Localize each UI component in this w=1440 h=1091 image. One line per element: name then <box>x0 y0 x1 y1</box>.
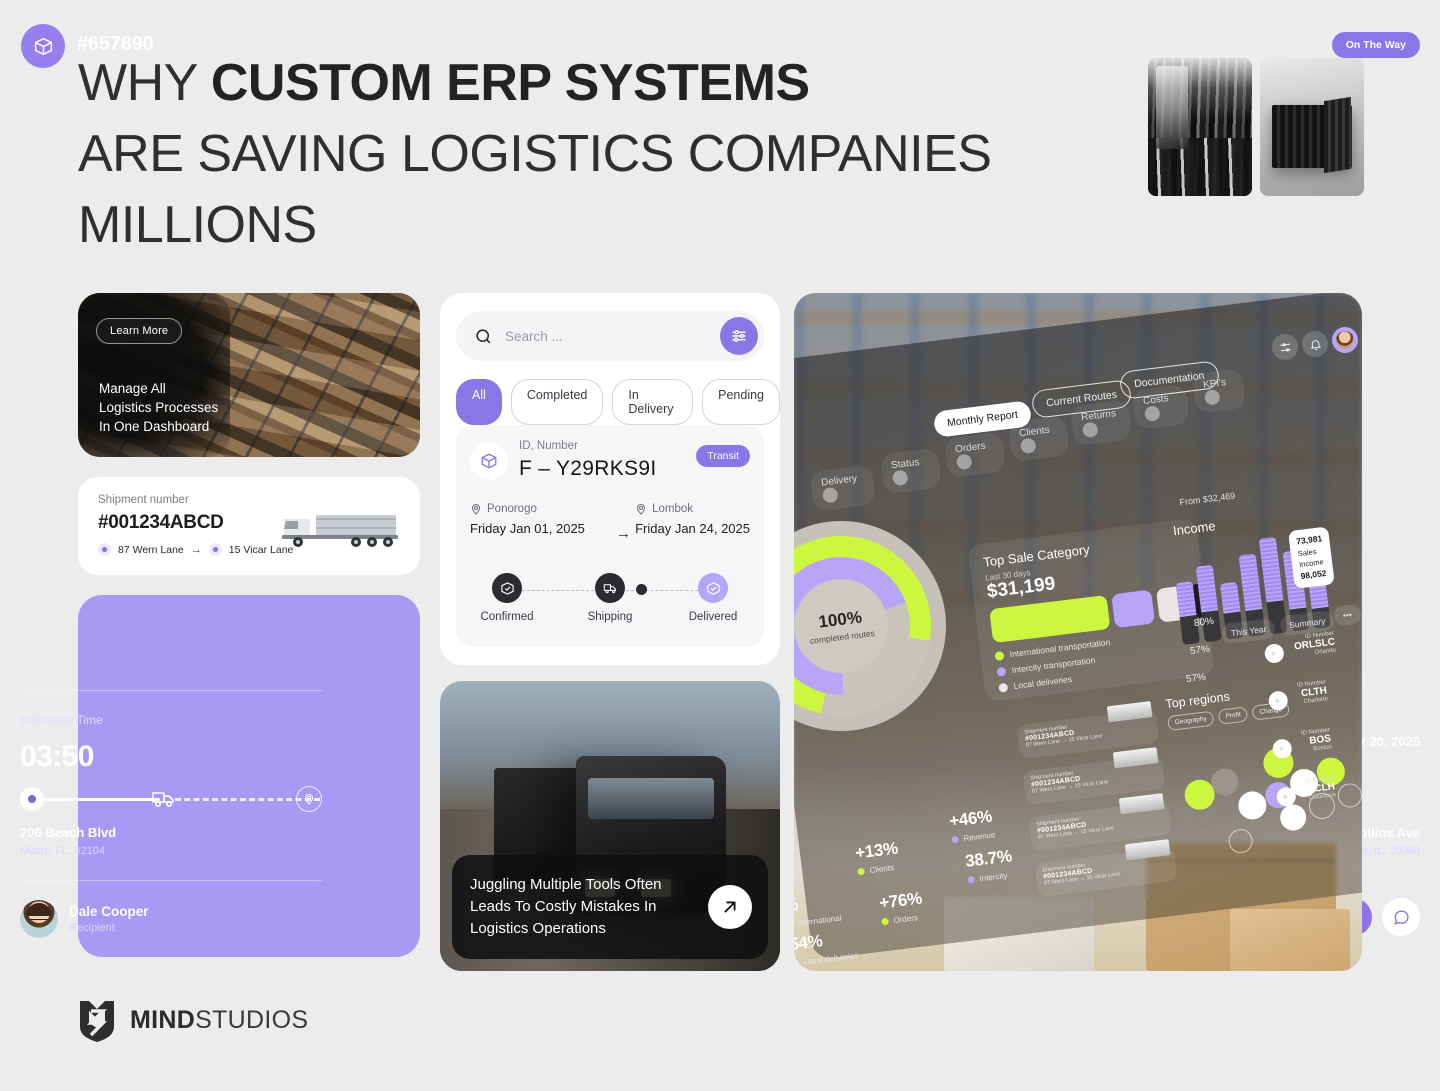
shipment-id-value: F – Y29RKS9I <box>519 457 656 481</box>
origin-city: Miami, FL, 32104 <box>20 845 116 857</box>
recipient-role: Recipient <box>69 922 149 934</box>
tile-costs-label: Costs <box>1143 393 1170 407</box>
shipment-detail-card[interactable]: ID, Number F – Y29RKS9I Transit Ponorogo… <box>456 425 764 647</box>
route-item[interactable]: ID Number CLH Columbus ▶ <box>1305 775 1337 801</box>
truck-illustration <box>276 505 404 551</box>
headline-line2: ARE SAVING LOGISTICS COMPANIES <box>78 119 1038 190</box>
slider-track-filled <box>38 798 160 801</box>
status-badge: On The Way <box>1332 32 1420 58</box>
shipment-number-value: #001234ABCD <box>98 512 224 534</box>
tooltip-top-label: Sales <box>1297 547 1317 558</box>
tile-status[interactable]: Status <box>880 448 942 495</box>
origin-date: Friday Jan 01, 2025 <box>470 521 585 536</box>
stat-orders: +76% Orders <box>878 889 924 927</box>
estimated-time-value: 03:50 <box>20 740 94 774</box>
regions-bubble-chart <box>1175 730 1362 871</box>
tile-orders[interactable]: Orders <box>944 432 1006 479</box>
photo-caption-overlay: Juggling Multiple Tools Often Leads To C… <box>452 855 768 959</box>
cardboard-box-small <box>1230 909 1350 971</box>
filter-pills: All Completed In Delivery Pending <box>456 379 780 425</box>
tile-returns-label: Returns <box>1081 408 1117 423</box>
step-delivered-label: Delivered <box>676 611 750 623</box>
tile-orders-label: Orders <box>955 441 987 456</box>
stat-revenue: +46% Revenue <box>948 806 996 844</box>
search-icon <box>474 327 493 346</box>
transit-badge: Transit <box>696 445 750 467</box>
headline-line3: MILLIONS <box>78 190 1038 261</box>
map-pin-icon <box>635 503 647 515</box>
shipping-container-photo <box>1260 58 1364 196</box>
tile-delivery-label: Delivery <box>821 473 858 488</box>
arrow-up-right-icon <box>719 896 741 918</box>
logo-mark-icon <box>78 997 116 1043</box>
package-icon <box>470 442 508 480</box>
route-item[interactable]: ID Number BOS Boston ▶ <box>1301 727 1333 753</box>
chat-button[interactable] <box>1382 898 1420 936</box>
warehouse-title-line2: Logistics Processes <box>99 400 218 415</box>
origin-city: Ponorogo <box>487 503 537 515</box>
stat-international: % International <box>794 890 842 930</box>
route-item[interactable]: ID Number CLTH Charlotte ▶ <box>1297 679 1329 705</box>
tile-clients-label: Clients <box>1019 425 1051 440</box>
tooltip-top-value: 73,981 <box>1296 533 1323 546</box>
recipient-block: Dale Cooper Recipient <box>20 900 149 938</box>
origin-address-block: 206 Beach Blvd Miami, FL, 32104 <box>20 825 116 857</box>
shipment-id-label: ID, Number <box>519 440 578 452</box>
estimated-time-label: Estimated Time <box>20 713 103 727</box>
photo-caption-text: Juggling Multiple Tools Often Leads To C… <box>470 874 700 939</box>
map-pin-icon <box>470 503 482 515</box>
stat-value: % <box>794 895 799 916</box>
search-input[interactable] <box>505 329 720 344</box>
headline-line1-light: WHY <box>78 54 211 112</box>
stat-clients: +13% Clients <box>854 839 900 877</box>
logo-bold: MIND <box>130 1006 195 1034</box>
top-sale-title: Top Sale Category <box>982 542 1090 570</box>
slider-destination-pin <box>296 786 322 812</box>
warehouse-card-title: Manage All Logistics Processes In One Da… <box>99 379 259 436</box>
delivered-icon <box>698 573 728 603</box>
filter-pill-all[interactable]: All <box>456 379 502 425</box>
progress-slider[interactable] <box>20 786 322 814</box>
learn-more-button[interactable]: Learn More <box>96 318 182 344</box>
open-arrow-button[interactable] <box>708 885 752 929</box>
tile-kpis[interactable]: KPI's <box>1192 368 1247 414</box>
tile-delivery[interactable]: Delivery <box>810 464 876 511</box>
shipment-search-panel: All Completed In Delivery Pending ID, Nu… <box>440 293 780 665</box>
tile-kpis-label: KPI's <box>1203 377 1227 391</box>
origin-address: 206 Beach Blvd <box>20 825 116 840</box>
stat-value: +76% <box>878 889 923 913</box>
shipment-origin: 87 Wern Lane <box>118 544 184 556</box>
page-title: WHY CUSTOM ERP SYSTEMS ARE SAVING LOGIST… <box>78 48 1038 262</box>
shipment-label: Shipment number <box>98 494 189 506</box>
poster-root: WHY CUSTOM ERP SYSTEMS ARE SAVING LOGIST… <box>0 0 1440 1091</box>
warehouse-title-line3: In One Dashboard <box>99 419 209 434</box>
shipment-route: 87 Wern Lane → 15 Vicar Lane <box>98 543 293 556</box>
origin-city-row: Ponorogo <box>470 503 585 515</box>
tooltip-bottom-value: 98,052 <box>1300 568 1327 581</box>
search-bar[interactable] <box>456 311 764 361</box>
mind-studios-logo: MINDSTUDIOS <box>78 997 308 1043</box>
tooltip-bottom-label: Income <box>1299 557 1325 569</box>
truck-photo-card[interactable]: Juggling Multiple Tools Often Leads To C… <box>440 681 780 971</box>
logo-light: STUDIOS <box>195 1006 308 1034</box>
caption-line2: Leads To Costly Mistakes In <box>470 898 656 915</box>
logo-text: MINDSTUDIOS <box>130 1006 308 1035</box>
donut-value: 100% <box>817 607 863 632</box>
origin-dot-icon <box>98 543 111 556</box>
destination-pin-icon <box>209 543 222 556</box>
headline-line1-bold: CUSTOM ERP SYSTEMS <box>211 54 810 112</box>
destination-city: Lombok <box>652 503 693 515</box>
tile-status-label: Status <box>891 457 920 471</box>
filter-pill-completed[interactable]: Completed <box>511 379 603 425</box>
stat-value: 54% <box>794 931 823 954</box>
route-arrow-icon: → <box>616 525 631 542</box>
trucks-fleet-photo <box>1148 58 1252 196</box>
step-confirmed-label: Confirmed <box>470 611 544 623</box>
step-shipping-label: Shipping <box>573 611 647 623</box>
filter-settings-icon[interactable] <box>720 317 758 355</box>
confirmed-icon <box>492 573 522 603</box>
step-delivered[interactable]: Delivered <box>676 573 750 623</box>
erp-dashboard-mockup[interactable]: Monthly Report Current Routes Documentat… <box>794 293 1362 971</box>
shipping-icon <box>595 573 625 603</box>
arrow-right-icon: → <box>191 544 202 556</box>
tile-clients[interactable]: Clients <box>1008 416 1070 463</box>
destination-city-row: Lombok <box>635 503 750 515</box>
income-tooltip: 73,981 Sales Income 98,052 <box>1288 526 1335 588</box>
warehouse-title-line1: Manage All <box>99 381 166 396</box>
avatar <box>20 900 58 938</box>
stat-intercity: 38.7% Intercity <box>964 846 1014 884</box>
filter-pill-pending[interactable]: Pending <box>702 379 780 425</box>
slider-truck-icon <box>151 788 177 810</box>
divider-bottom <box>20 880 322 881</box>
tile-returns[interactable]: Returns <box>1070 400 1132 447</box>
caption-line1: Juggling Multiple Tools Often <box>470 876 662 893</box>
slider-start-knob[interactable] <box>20 787 44 811</box>
filter-pill-in-delivery[interactable]: In Delivery <box>612 379 693 425</box>
stat-value: +46% <box>948 807 993 831</box>
divider-top <box>20 690 322 691</box>
caption-line3: Logistics Operations <box>470 920 606 937</box>
step-shipping[interactable]: Shipping <box>573 573 647 623</box>
route-summary: Ponorogo Friday Jan 01, 2025 Lombok Frid… <box>470 503 750 536</box>
step-confirmed[interactable]: Confirmed <box>470 573 544 623</box>
hero-thumbnails <box>1148 58 1364 196</box>
step-midpoint-dot <box>636 584 647 595</box>
tracking-id: #657890 <box>77 33 153 56</box>
recipient-name: Dale Cooper <box>69 904 149 919</box>
package-icon <box>21 24 65 68</box>
destination-date: Friday Jan 24, 2025 <box>635 521 750 536</box>
shipment-number-card[interactable]: Shipment number #001234ABCD 87 Wern Lane… <box>78 477 420 575</box>
tile-costs[interactable]: Costs <box>1132 384 1190 430</box>
stat-value: 38.7% <box>964 846 1013 871</box>
stat-value: +13% <box>854 839 899 863</box>
